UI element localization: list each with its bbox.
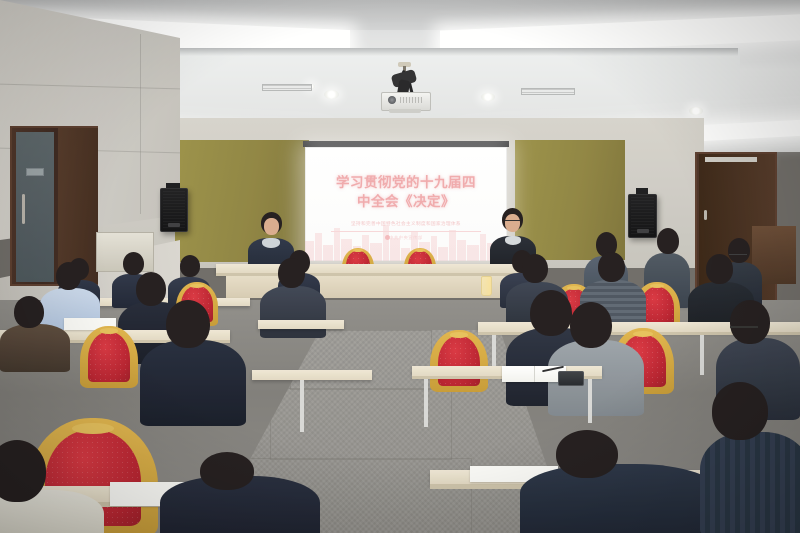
- ceiling-vent-5: [262, 84, 312, 91]
- attendee-body: [0, 324, 70, 372]
- projection-screen: 学习贯彻党的十九届四 中全会《决定》 坚持和完善中国特色社会主义制度和国家治理体…: [305, 147, 507, 261]
- chair-cushion: [88, 332, 131, 382]
- attendee-foreground-right: [520, 430, 720, 533]
- door-left-handle[interactable]: [22, 194, 25, 224]
- attendee-foreground-left: [0, 440, 104, 533]
- downlight-5: [481, 93, 495, 101]
- attendee-head: [712, 382, 768, 440]
- desk-row3-right-leg: [424, 379, 428, 427]
- downlight-6: [689, 107, 703, 115]
- attendee-head: [200, 452, 254, 490]
- presenter-left-collar: [262, 238, 280, 248]
- ceiling-vent-6: [521, 88, 575, 95]
- water-glass-head-table: [481, 276, 492, 296]
- presenter-right-glasses-icon: [505, 220, 520, 224]
- door-left-leaf-glass[interactable]: [14, 128, 56, 284]
- attendee-r3-1: [0, 296, 70, 370]
- attendee-head: [730, 300, 770, 344]
- slide-subtitle: 坚持和完善中国特色社会主义制度和国家治理体系: [305, 221, 507, 227]
- projector-lens: [388, 96, 396, 104]
- chair-r3-b[interactable]: [430, 330, 488, 392]
- presenter-left-face: [264, 218, 279, 235]
- projector-vent: [400, 97, 422, 103]
- attendee-foreground-far-right: [700, 382, 800, 533]
- projector-foot: [389, 109, 421, 113]
- attendee-r3-2: [140, 300, 246, 424]
- attendee-body: [700, 432, 800, 533]
- door-right-handle[interactable]: [704, 210, 707, 220]
- desk-row3-left: [252, 370, 372, 380]
- attendee-head: [56, 262, 81, 290]
- attendee-head: [657, 228, 679, 254]
- desk-row2-center: [258, 320, 344, 329]
- slide-title-line-1: 学习贯彻党的十九届四: [305, 173, 507, 192]
- presenter-right-collar: [505, 236, 521, 245]
- attendee-body: [520, 464, 720, 533]
- chair-top-notch: [72, 423, 114, 434]
- attendee-head: [14, 296, 44, 328]
- desk-row3-right-leg-2: [588, 379, 592, 423]
- slide-title-line-2: 中全会《决定》: [305, 192, 507, 211]
- speaker-left: [160, 188, 188, 232]
- tablet-row3: [558, 371, 584, 386]
- desk-row3-left-leg: [300, 380, 304, 432]
- desk-row2-right-leg-2: [700, 335, 704, 375]
- attendee-r3-4: [548, 302, 644, 414]
- attendee-head: [598, 252, 625, 282]
- slide-organization: 中共中央宣传部: [305, 235, 507, 241]
- attendee-body: [260, 286, 326, 338]
- attendee-head: [522, 254, 548, 283]
- meeting-room-photo: 学习贯彻党的十九届四 中全会《决定》 坚持和完善中国特色社会主义制度和国家治理体…: [0, 0, 800, 533]
- chair-top-notch: [190, 284, 203, 288]
- attendee-head: [278, 258, 305, 288]
- downlight-4: [324, 90, 339, 99]
- stone-seam-l1: [0, 84, 180, 90]
- attendee-foreground-center: [160, 452, 320, 533]
- slide-title: 学习贯彻党的十九届四 中全会《决定》: [305, 173, 507, 211]
- attendee-head: [166, 300, 210, 348]
- attendee-head: [570, 302, 612, 348]
- attendee-glasses-icon: [730, 326, 758, 332]
- notebook-spine: [534, 366, 535, 382]
- speaker-left-badge: [168, 223, 180, 227]
- door-right-transom: [705, 157, 757, 162]
- slide-divider: [331, 231, 481, 232]
- attendee-head: [706, 254, 733, 284]
- attendee-head: [556, 430, 618, 478]
- attendee-body: [140, 340, 246, 426]
- stone-seam-l3: [140, 34, 141, 214]
- door-left-sign: [26, 168, 44, 176]
- chair-r3-a[interactable]: [80, 326, 138, 388]
